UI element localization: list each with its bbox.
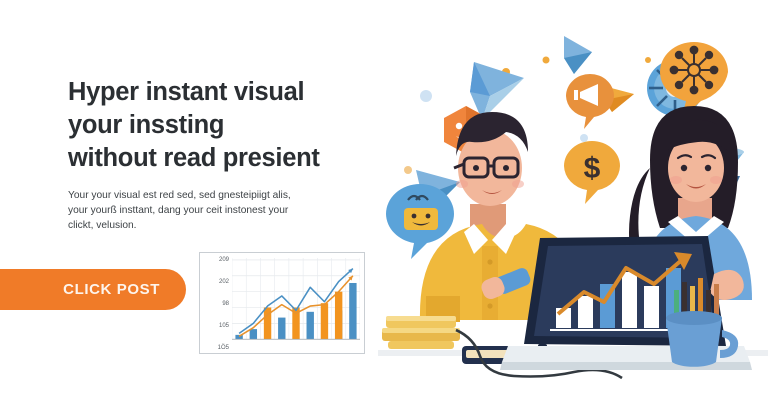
y-tick-4: 1Ö5 (203, 345, 229, 351)
paper-plane-icon (564, 36, 592, 74)
headline-line-1: Hyper instant visual (68, 76, 398, 109)
decor-dot (420, 90, 432, 102)
chart-bar (321, 303, 328, 339)
y-tick-0: 209 (203, 257, 229, 263)
chart-bar (349, 283, 356, 339)
decor-dot (543, 57, 550, 64)
dollar-speech-bubble-icon: $ (564, 141, 620, 204)
body-line-1: Your your visual est red sed, sed gneste… (68, 188, 370, 203)
promo-banner: Hyper instant visual your inssting witho… (0, 0, 768, 419)
hero-illustration: $ (378, 0, 768, 419)
decor-dot (404, 166, 412, 174)
megaphone-icon (566, 74, 614, 129)
chart-bar (335, 292, 342, 340)
stacked-books (382, 316, 460, 349)
y-tick-2: 98 (203, 301, 229, 307)
y-tick-1: 202 (203, 279, 229, 285)
cta-label: CLICK POST (63, 281, 160, 298)
body-text: Your your visual est red sed, sed gneste… (68, 188, 370, 233)
paper-plane-icon (470, 62, 524, 120)
chart-svg (232, 258, 360, 345)
page-title: Hyper instant visual your inssting witho… (68, 76, 398, 175)
click-post-button[interactable]: CLICK POST (0, 269, 186, 310)
chart-bar (250, 329, 257, 339)
body-line-3: clickt, velusion. (68, 218, 370, 233)
chart-bar (278, 318, 285, 340)
growth-chart-card: 209 202 98 105 1Ö5 (199, 252, 365, 354)
decor-dot (580, 134, 588, 142)
decor-dot (645, 57, 651, 63)
y-tick-3: 105 (203, 323, 229, 329)
headline-line-3: without read presient (68, 142, 398, 175)
chart-bar (307, 312, 314, 339)
body-line-2: your yourß insttant, dang your ceit inst… (68, 203, 370, 218)
chart-y-axis-labels: 209 202 98 105 1Ö5 (203, 257, 229, 351)
headline-line-2: your inssting (68, 109, 398, 142)
svg-text:$: $ (584, 152, 601, 185)
chart-plot-area (232, 258, 360, 345)
